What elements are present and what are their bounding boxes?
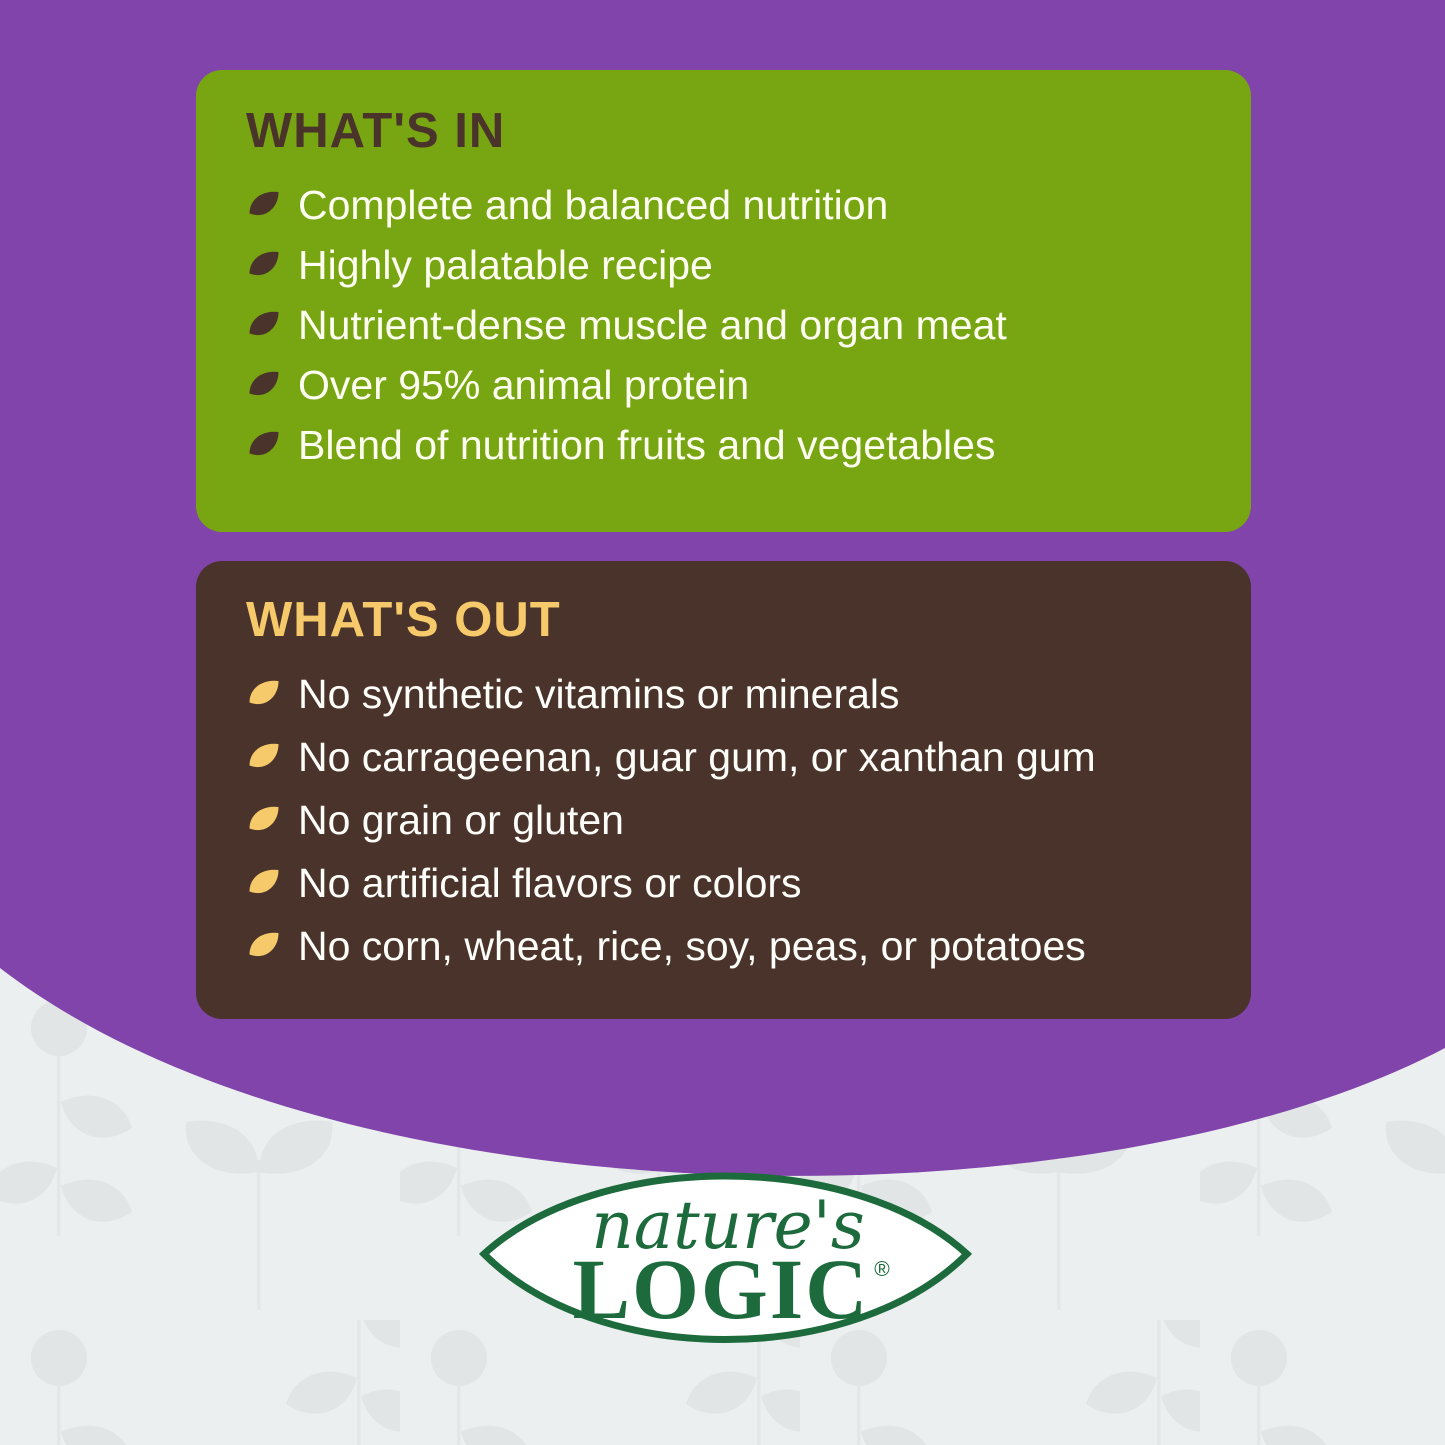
list-item-label: No artificial flavors or colors <box>298 861 802 907</box>
list-item-label: Over 95% animal protein <box>298 363 749 409</box>
leaf-bullet-icon <box>244 738 284 778</box>
leaf-bullet-icon <box>244 246 284 286</box>
whats-out-list: No synthetic vitamins or minerals No car… <box>244 672 1207 970</box>
list-item: Highly palatable recipe <box>244 243 1207 289</box>
whats-in-card: WHAT'S IN Complete and balanced nutritio… <box>196 70 1251 532</box>
leaf-bullet-icon <box>244 675 284 715</box>
leaf-bullet-icon <box>244 426 284 466</box>
list-item-label: Nutrient-dense muscle and organ meat <box>298 303 1007 349</box>
list-item-label: No carrageenan, guar gum, or xanthan gum <box>298 735 1096 781</box>
list-item: No carrageenan, guar gum, or xanthan gum <box>244 735 1207 781</box>
list-item-label: No synthetic vitamins or minerals <box>298 672 900 718</box>
leaf-bullet-icon <box>244 366 284 406</box>
list-item: No grain or gluten <box>244 798 1207 844</box>
list-item-label: Highly palatable recipe <box>298 243 713 289</box>
leaf-bullet-icon <box>244 864 284 904</box>
logo-leaf-badge-icon: nature's LOGIC ® <box>478 1136 973 1381</box>
whats-in-list: Complete and balanced nutrition Highly p… <box>244 183 1207 469</box>
brand-logo: nature's LOGIC ® <box>478 1136 973 1381</box>
infographic-canvas: WHAT'S IN Complete and balanced nutritio… <box>0 0 1445 1445</box>
list-item-label: No corn, wheat, rice, soy, peas, or pota… <box>298 924 1086 970</box>
leaf-bullet-icon <box>244 927 284 967</box>
leaf-bullet-icon <box>244 186 284 226</box>
whats-out-card: WHAT'S OUT No synthetic vitamins or mine… <box>196 561 1251 1019</box>
list-item: Nutrient-dense muscle and organ meat <box>244 303 1207 349</box>
list-item: No artificial flavors or colors <box>244 861 1207 907</box>
whats-in-title: WHAT'S IN <box>246 106 1207 157</box>
list-item: No corn, wheat, rice, soy, peas, or pota… <box>244 924 1207 970</box>
list-item-label: Complete and balanced nutrition <box>298 183 888 229</box>
list-item: No synthetic vitamins or minerals <box>244 672 1207 718</box>
registered-mark-icon: ® <box>874 1258 890 1281</box>
logo-wordmark-text: LOGIC <box>573 1241 870 1337</box>
list-item-label: Blend of nutrition fruits and vegetables <box>298 423 995 469</box>
list-item: Over 95% animal protein <box>244 363 1207 409</box>
list-item: Blend of nutrition fruits and vegetables <box>244 423 1207 469</box>
list-item-label: No grain or gluten <box>298 798 624 844</box>
leaf-bullet-icon <box>244 306 284 346</box>
whats-out-title: WHAT'S OUT <box>246 595 1207 646</box>
leaf-bullet-icon <box>244 801 284 841</box>
list-item: Complete and balanced nutrition <box>244 183 1207 229</box>
